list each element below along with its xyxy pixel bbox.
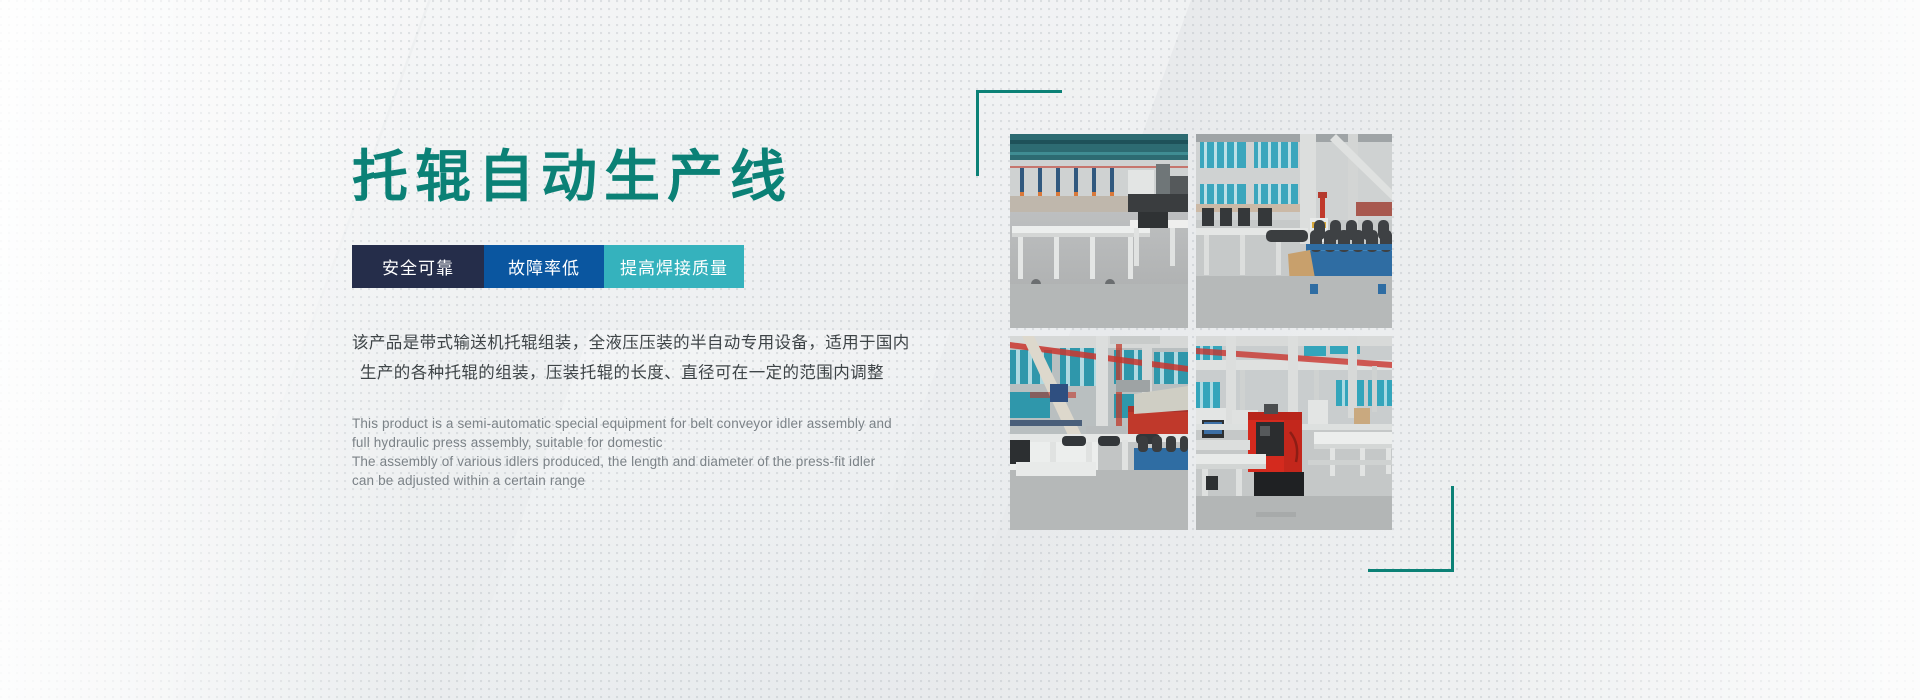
product-banner: 托辊自动生产线 安全可靠 故障率低 提高焊接质量 该产品是带式输送机托辊组装，全… bbox=[0, 0, 1920, 700]
photo-assembly-floor[interactable] bbox=[1010, 336, 1188, 530]
badge-label: 故障率低 bbox=[508, 254, 580, 279]
feature-badge-group: 安全可靠 故障率低 提高焊接质量 bbox=[352, 245, 972, 288]
description-en-line-4: can be adjusted within a certain range bbox=[352, 471, 972, 490]
badge-low-failure-rate[interactable]: 故障率低 bbox=[484, 245, 604, 288]
page-title: 托辊自动生产线 bbox=[352, 146, 972, 209]
badge-improve-weld-quality[interactable]: 提高焊接质量 bbox=[604, 245, 744, 288]
photo-red-press-machine[interactable] bbox=[1196, 336, 1392, 530]
photo-conveyor-line[interactable] bbox=[1010, 134, 1188, 328]
corner-bracket-bottom-right bbox=[1368, 486, 1454, 572]
badge-safe-reliable[interactable]: 安全可靠 bbox=[352, 245, 484, 288]
photo-workshop-rollers[interactable] bbox=[1196, 134, 1392, 328]
badge-label: 安全可靠 bbox=[382, 254, 454, 279]
description-english: This product is a semi-automatic special… bbox=[352, 414, 972, 490]
description-en-line-1: This product is a semi-automatic special… bbox=[352, 414, 972, 433]
description-en-line-2: full hydraulic press assembly, suitable … bbox=[352, 433, 972, 452]
description-cn-line-1: 该产品是带式输送机托辊组装，全液压压装的半自动专用设备，适用于国内 bbox=[352, 328, 972, 358]
description-chinese: 该产品是带式输送机托辊组装，全液压压装的半自动专用设备，适用于国内 生产的各种托… bbox=[352, 328, 972, 388]
description-cn-line-2: 生产的各种托辊的组装，压装托辊的长度、直径可在一定的范围内调整 bbox=[352, 358, 972, 388]
photo-grid bbox=[1010, 134, 1412, 530]
badge-label: 提高焊接质量 bbox=[620, 254, 728, 279]
product-photo-gallery bbox=[1010, 100, 1412, 530]
description-en-line-3: The assembly of various idlers produced,… bbox=[352, 452, 972, 471]
banner-text-column: 托辊自动生产线 安全可靠 故障率低 提高焊接质量 该产品是带式输送机托辊组装，全… bbox=[352, 146, 972, 490]
